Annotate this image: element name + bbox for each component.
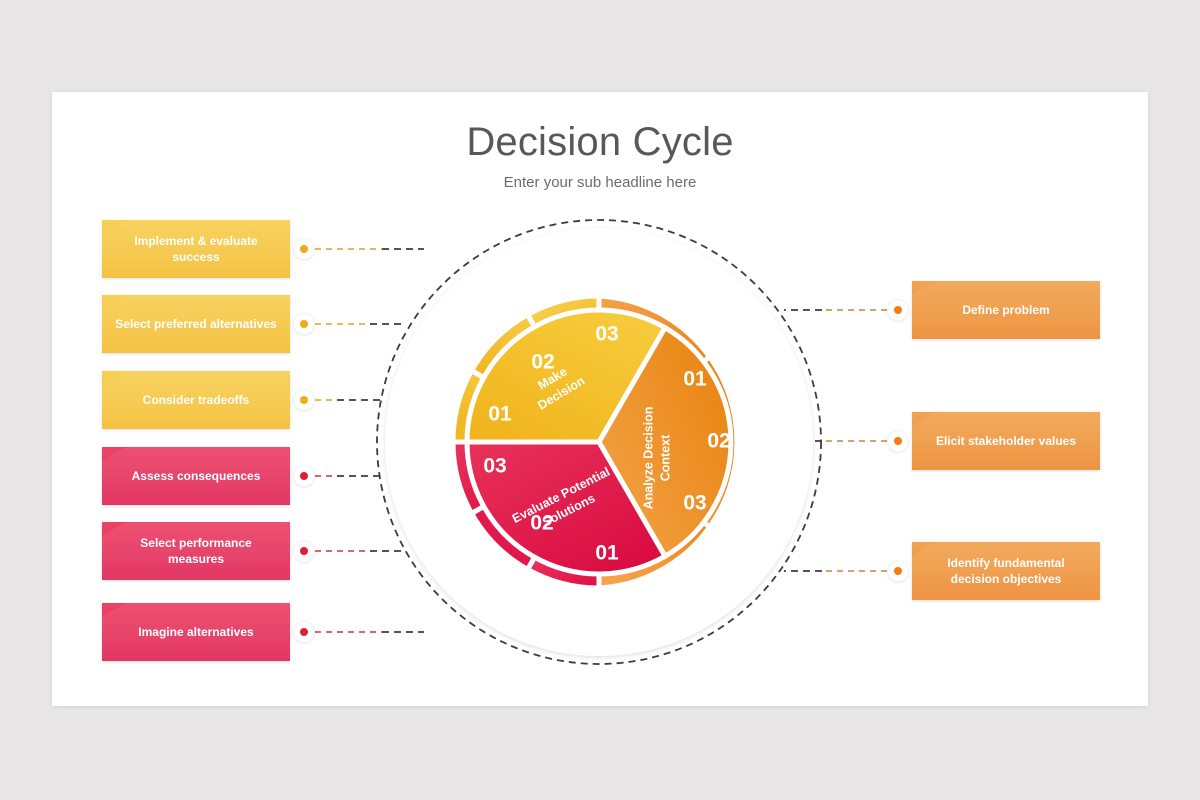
connector-dot-left-6[interactable] — [293, 621, 315, 643]
right-label-elicit-stakeholder-values[interactable]: Elicit stakeholder values — [912, 412, 1100, 470]
right-label-text: Identify fundamental decision objectives — [924, 555, 1088, 587]
dot-core-icon — [894, 306, 902, 314]
connector-dot-left-4[interactable] — [293, 465, 315, 487]
outer-number-pink-01: 01 — [595, 542, 619, 565]
inner-label-analyze-line1: Analyze Decision — [641, 407, 655, 510]
left-label-text: Imagine alternatives — [138, 624, 253, 640]
connector-dot-right-2[interactable] — [887, 430, 909, 452]
dot-core-icon — [300, 628, 308, 636]
right-label-define-problem[interactable]: Define problem — [912, 281, 1100, 339]
left-label-text: Select performance measures — [114, 535, 278, 567]
slide-canvas: Decision Cycle Enter your sub headline h… — [0, 0, 1200, 800]
left-label-implement-evaluate-success[interactable]: Implement & evaluate success — [102, 220, 290, 278]
connector-dot-left-1[interactable] — [293, 238, 315, 260]
dot-core-icon — [300, 472, 308, 480]
dot-core-icon — [894, 567, 902, 575]
right-label-identify-fundamental-decision-objectives[interactable]: Identify fundamental decision objectives — [912, 542, 1100, 600]
dot-core-icon — [300, 547, 308, 555]
outer-number-yellow-03: 03 — [595, 323, 618, 346]
dot-core-icon — [300, 245, 308, 253]
left-label-text: Consider tradeoffs — [143, 392, 250, 408]
inner-ring — [467, 310, 731, 574]
outer-number-orange-01: 01 — [683, 368, 707, 391]
left-label-select-preferred-alternatives[interactable]: Select preferred alternatives — [102, 295, 290, 353]
dot-core-icon — [300, 320, 308, 328]
outer-number-orange-02: 02 — [707, 430, 730, 453]
left-label-text: Implement & evaluate success — [114, 233, 278, 265]
left-label-select-performance-measures[interactable]: Select performance measures — [102, 522, 290, 580]
right-label-text: Define problem — [962, 302, 1049, 318]
connector-dot-right-3[interactable] — [887, 560, 909, 582]
connector-dot-right-1[interactable] — [887, 299, 909, 321]
outer-number-orange-03: 03 — [683, 492, 706, 515]
outer-number-yellow-01: 01 — [488, 403, 512, 426]
right-label-text: Elicit stakeholder values — [936, 433, 1076, 449]
connector-dot-left-3[interactable] — [293, 389, 315, 411]
dot-core-icon — [894, 437, 902, 445]
connector-dot-left-2[interactable] — [293, 313, 315, 335]
left-label-text: Assess consequences — [132, 468, 261, 484]
inner-label-analyze-line2: Context — [658, 434, 672, 481]
left-label-consider-tradeoffs[interactable]: Consider tradeoffs — [102, 371, 290, 429]
left-label-text: Select preferred alternatives — [115, 316, 276, 332]
left-label-imagine-alternatives[interactable]: Imagine alternatives — [102, 603, 290, 661]
outer-number-pink-03: 03 — [483, 455, 506, 478]
left-label-assess-consequences[interactable]: Assess consequences — [102, 447, 290, 505]
slide-card: Decision Cycle Enter your sub headline h… — [52, 92, 1148, 706]
connector-dot-left-5[interactable] — [293, 540, 315, 562]
dot-core-icon — [300, 396, 308, 404]
